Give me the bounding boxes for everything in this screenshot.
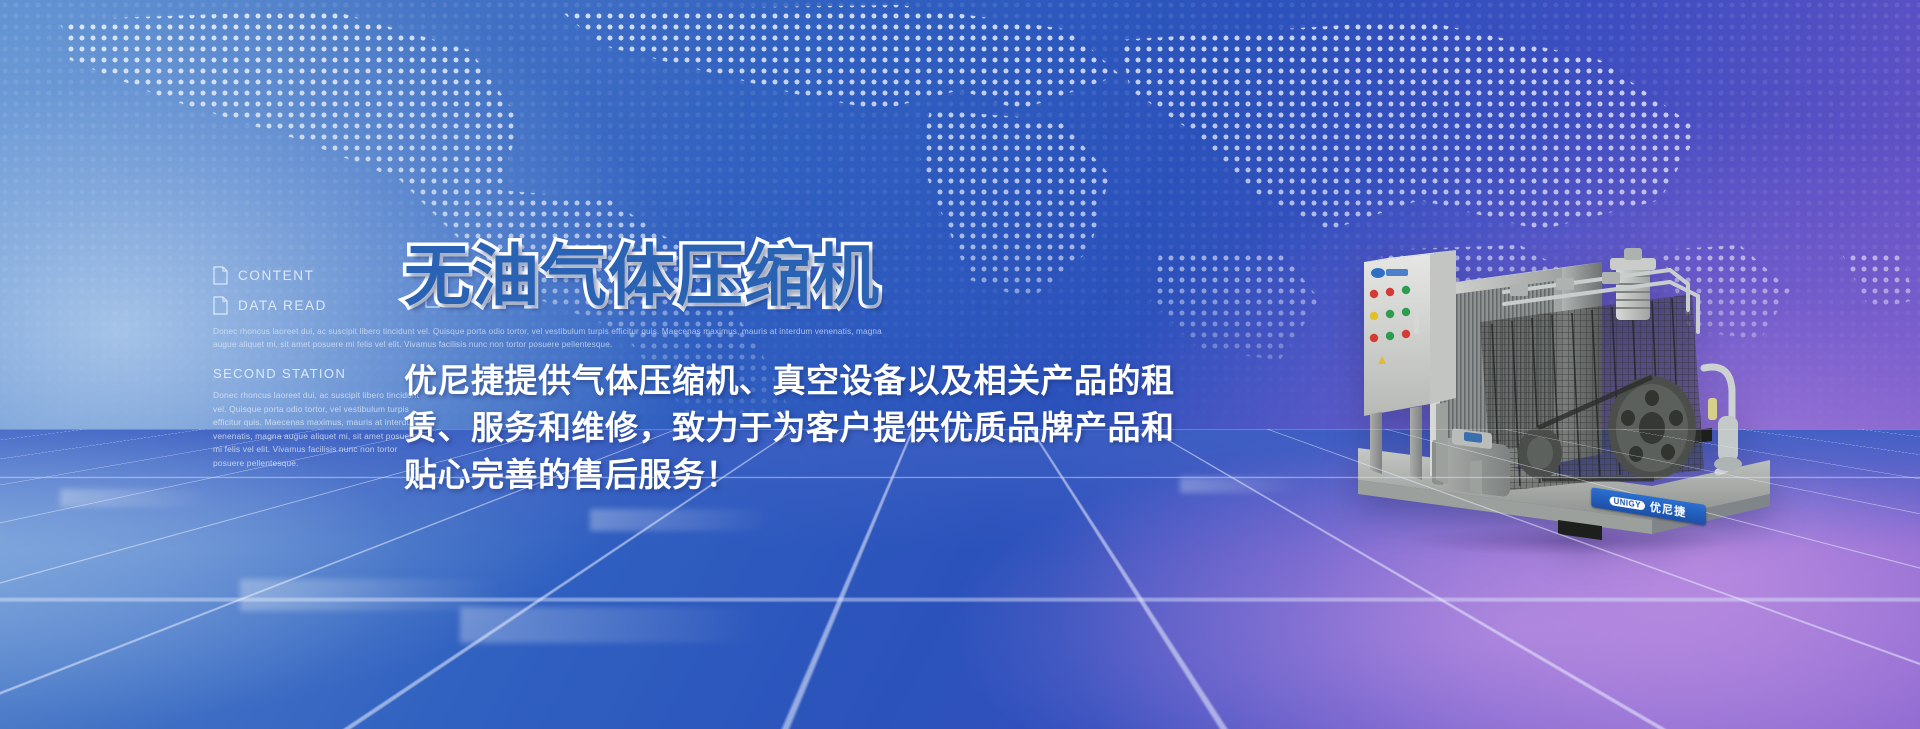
deco-body-text: Donec rhoncus laoreet dui, ac suscipit l… bbox=[213, 326, 903, 351]
document-icon bbox=[213, 296, 228, 315]
hero-banner: CONTENT DATA READ Donec rhoncus laoreet … bbox=[0, 0, 1920, 729]
deco-label-content: CONTENT bbox=[238, 268, 314, 283]
lead-paragraph: 优尼捷提供气体压缩机、真空设备以及相关产品的租赁、服务和维修，致力于为客户提供优… bbox=[404, 358, 1204, 499]
deco-section-second-station: SECOND STATION Donec rhoncus laoreet dui… bbox=[213, 366, 425, 471]
deco-label-data-read: DATA READ bbox=[238, 298, 327, 313]
brand-badge-cn: 优尼捷 bbox=[1650, 498, 1686, 520]
deco-label-second-station: SECOND STATION bbox=[213, 366, 425, 381]
deco-body-second-station: Donec rhoncus laoreet dui, ac suscipit l… bbox=[213, 389, 425, 471]
brand-badge-en: UNIGY bbox=[1610, 496, 1645, 511]
document-icon bbox=[213, 266, 228, 285]
product-image-compressor bbox=[1352, 248, 1772, 548]
page-title: 无油气体压缩机 bbox=[404, 222, 880, 319]
